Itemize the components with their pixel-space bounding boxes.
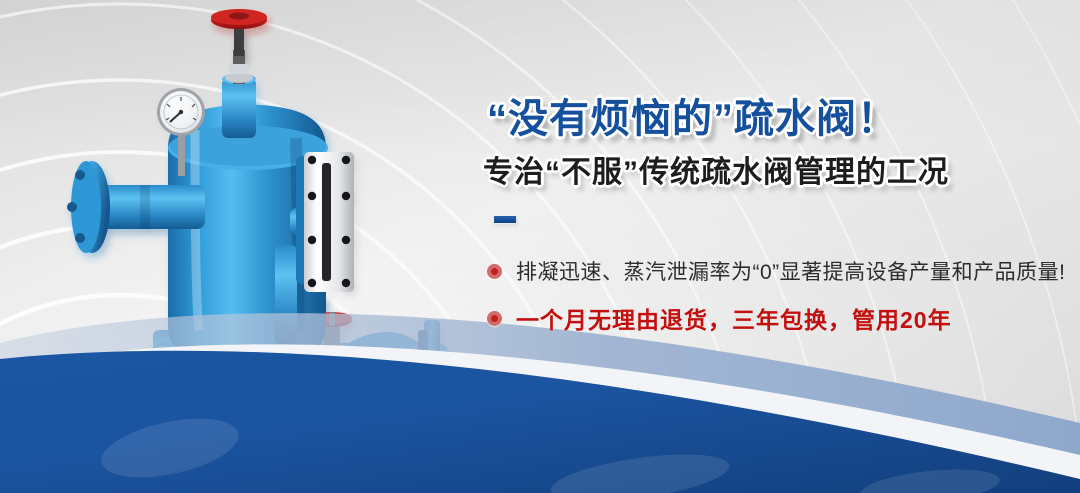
list-item: 一个月无理由退货，三年包换，管用20年 xyxy=(487,301,1067,335)
red-dot-bullet-icon xyxy=(487,264,502,279)
red-dot-bullet-icon xyxy=(487,311,502,326)
list-item: 排凝迅速、蒸汽泄漏率为“0”显著提高设备产量和产品质量! xyxy=(487,256,1067,286)
title-divider xyxy=(494,216,516,223)
page-subtitle: 专治“不服”传统疏水阀管理的工况 xyxy=(483,155,1067,191)
copy-block: “没有烦恼的”疏水阀！ 专治“不服”传统疏水阀管理的工况 排凝迅速、蒸汽泄漏率为… xyxy=(487,96,1067,351)
feature-list: 排凝迅速、蒸汽泄漏率为“0”显著提高设备产量和产品质量! 一个月无理由退货，三年… xyxy=(487,256,1067,335)
page-title: “没有烦恼的”疏水阀！ xyxy=(487,96,1067,143)
red-handwheel-valve xyxy=(211,9,267,84)
feature-text: 一个月无理由退货，三年包换，管用20年 xyxy=(516,301,952,335)
sight-glass-level-gauge xyxy=(296,152,354,292)
promo-banner: “没有烦恼的”疏水阀！ 专治“不服”传统疏水阀管理的工况 排凝迅速、蒸汽泄漏率为… xyxy=(0,0,1080,493)
feature-text: 排凝迅速、蒸汽泄漏率为“0”显著提高设备产量和产品质量! xyxy=(516,256,1066,286)
